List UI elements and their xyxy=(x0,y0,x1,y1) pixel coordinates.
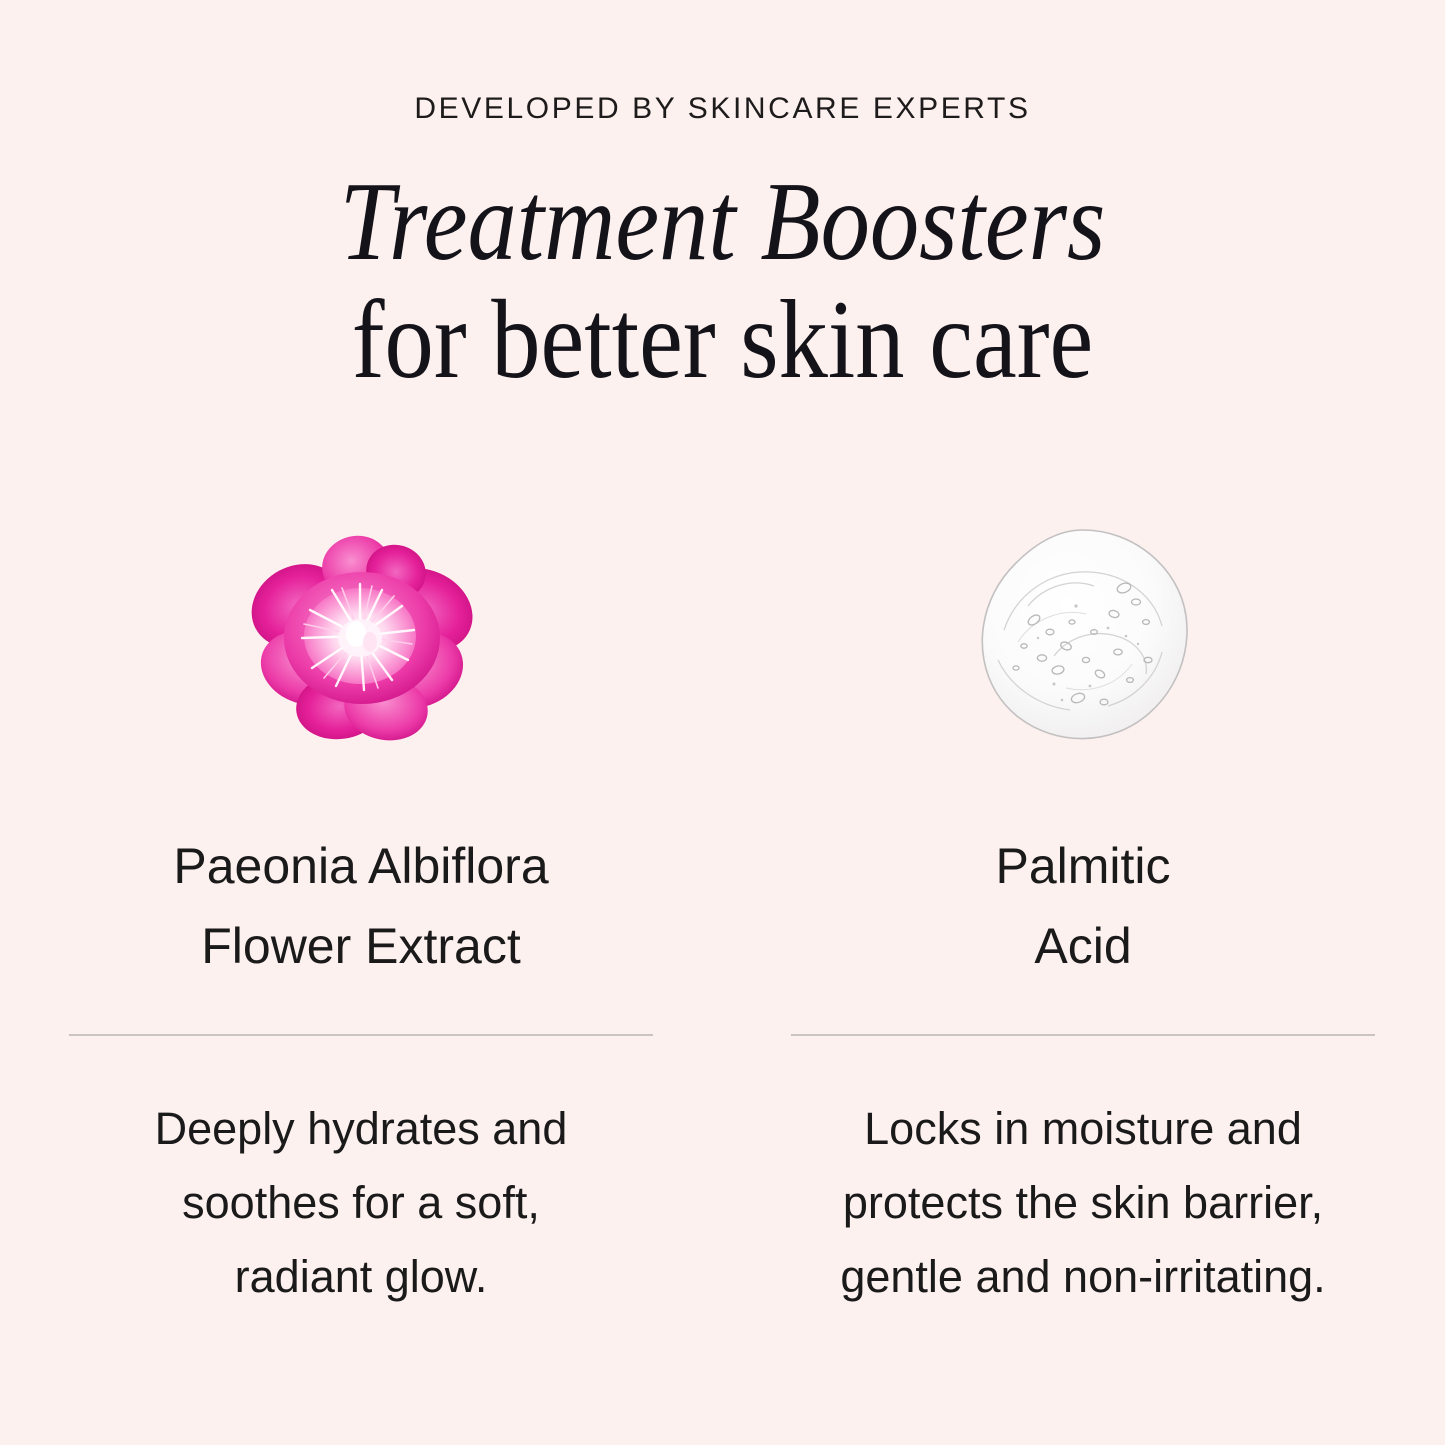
ingredient-description: Locks in moisture and protects the skin … xyxy=(840,1092,1325,1314)
headline-line-1: Treatment Boosters xyxy=(87,163,1359,281)
ingredient-card-palmitic: Palmitic Acid Locks in moisture and prot… xyxy=(722,500,1444,1314)
clear-gel-droplet-image xyxy=(722,500,1444,770)
page-title: Treatment Boosters for better skin care xyxy=(0,163,1445,399)
headline-line-2: for better skin care xyxy=(87,281,1359,399)
ingredient-columns: Paeonia Albiflora Flower Extract Deeply … xyxy=(0,500,1445,1314)
peony-flower-image xyxy=(0,500,722,770)
ingredient-description: Deeply hydrates and soothes for a soft, … xyxy=(155,1092,568,1314)
ingredient-name: Paeonia Albiflora Flower Extract xyxy=(173,826,548,986)
divider xyxy=(69,1034,653,1036)
divider xyxy=(791,1034,1375,1036)
ingredient-highlight-page: DEVELOPED BY SKINCARE EXPERTS Treatment … xyxy=(0,0,1445,1445)
ingredient-card-paeonia: Paeonia Albiflora Flower Extract Deeply … xyxy=(0,500,722,1314)
ingredient-name: Palmitic Acid xyxy=(995,826,1170,986)
eyebrow-text: DEVELOPED BY SKINCARE EXPERTS xyxy=(0,92,1445,126)
